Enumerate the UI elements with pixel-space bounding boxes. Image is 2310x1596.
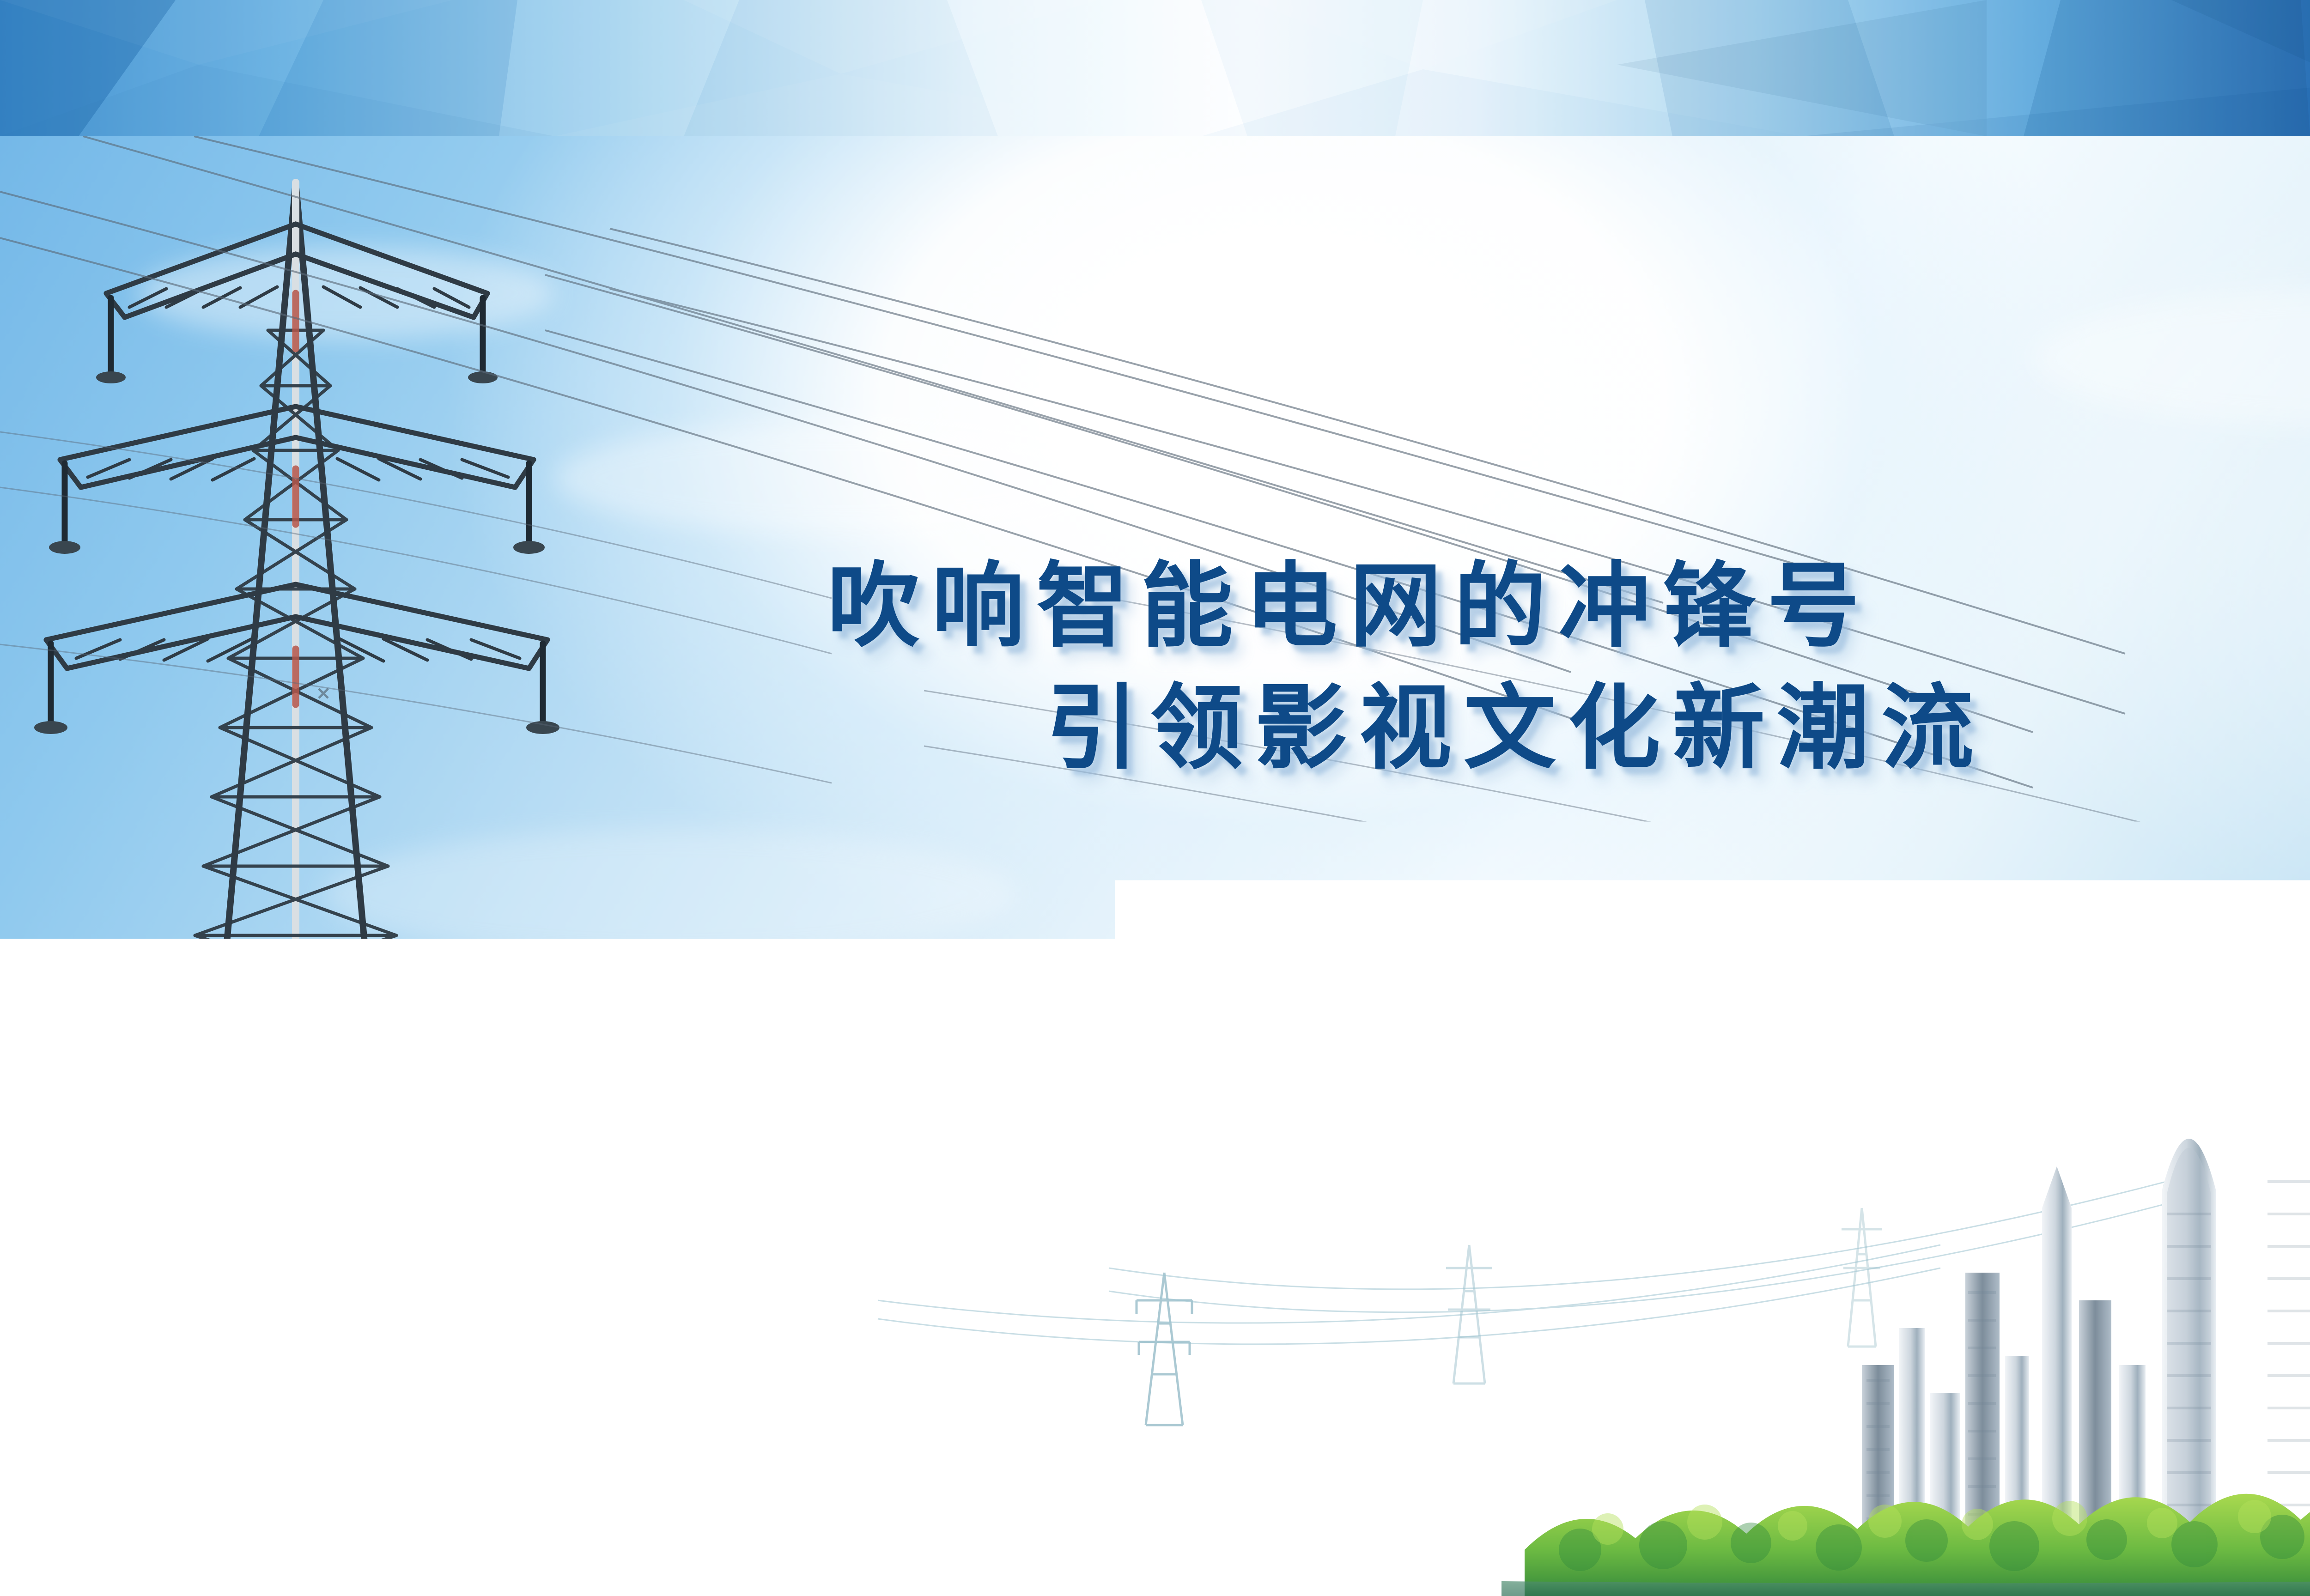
top-polygon-band: [0, 0, 2310, 136]
banner-root: 吹响智能电网的冲锋号 引领影视文化新潮流: [0, 0, 2310, 1596]
title-line-1: 吹响智能电网的冲锋号: [0, 545, 2310, 667]
top-polygon-svg: [0, 0, 2310, 136]
power-lines: [0, 136, 2310, 1596]
title-line-2: 引领影视文化新潮流: [194, 667, 2310, 789]
banner-title: 吹响智能电网的冲锋号 引领影视文化新潮流: [0, 545, 2310, 789]
photo-scene: [0, 136, 2310, 1596]
